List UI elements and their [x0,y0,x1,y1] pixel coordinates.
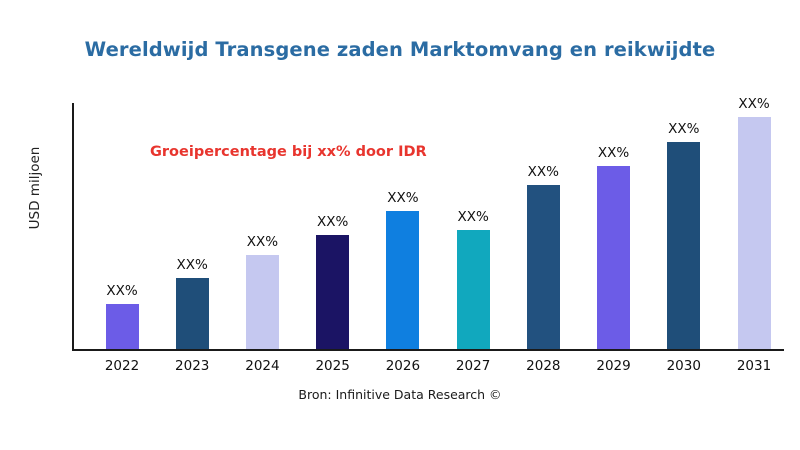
x-tick-2027: 2027 [433,358,513,374]
x-axis-line [72,349,784,351]
x-tick-2028: 2028 [503,358,583,374]
bar-value-label: XX% [457,209,488,225]
bar-chart: Wereldwijd Transgene zaden Marktomvang e… [0,0,800,450]
x-tick-2023: 2023 [152,358,232,374]
bar-2028[interactable]: XX% [527,185,560,349]
plot-area: Groeipercentage bij xx% door IDR XX%XX%X… [72,103,784,351]
source-caption: Bron: Infinitive Data Research © [0,387,800,402]
bar-2026[interactable]: XX% [386,211,419,349]
bar-value-label: XX% [598,145,629,161]
x-tick-2026: 2026 [363,358,443,374]
bar-value-label: XX% [177,257,208,273]
y-axis-line [72,103,74,351]
bar-2031[interactable]: XX% [738,117,771,349]
bar-value-label: XX% [738,96,769,112]
chart-title: Wereldwijd Transgene zaden Marktomvang e… [0,38,800,61]
bar-2022[interactable]: XX% [106,304,139,349]
x-tick-2030: 2030 [644,358,724,374]
x-tick-2031: 2031 [714,358,794,374]
bar-2029[interactable]: XX% [597,166,630,349]
bar-value-label: XX% [387,190,418,206]
x-tick-2024: 2024 [222,358,302,374]
growth-rate-annotation: Groeipercentage bij xx% door IDR [150,144,427,160]
bar-2027[interactable]: XX% [457,230,490,349]
x-tick-2029: 2029 [574,358,654,374]
x-tick-2025: 2025 [293,358,373,374]
x-tick-2022: 2022 [82,358,162,374]
bar-2024[interactable]: XX% [246,255,279,349]
bar-value-label: XX% [317,214,348,230]
bar-value-label: XX% [528,164,559,180]
bar-value-label: XX% [247,234,278,250]
bar-2030[interactable]: XX% [667,142,700,349]
bar-value-label: XX% [668,121,699,137]
bar-2025[interactable]: XX% [316,235,349,349]
bar-2023[interactable]: XX% [176,278,209,349]
bar-value-label: XX% [106,283,137,299]
y-axis-label: USD miljoen [27,108,43,268]
